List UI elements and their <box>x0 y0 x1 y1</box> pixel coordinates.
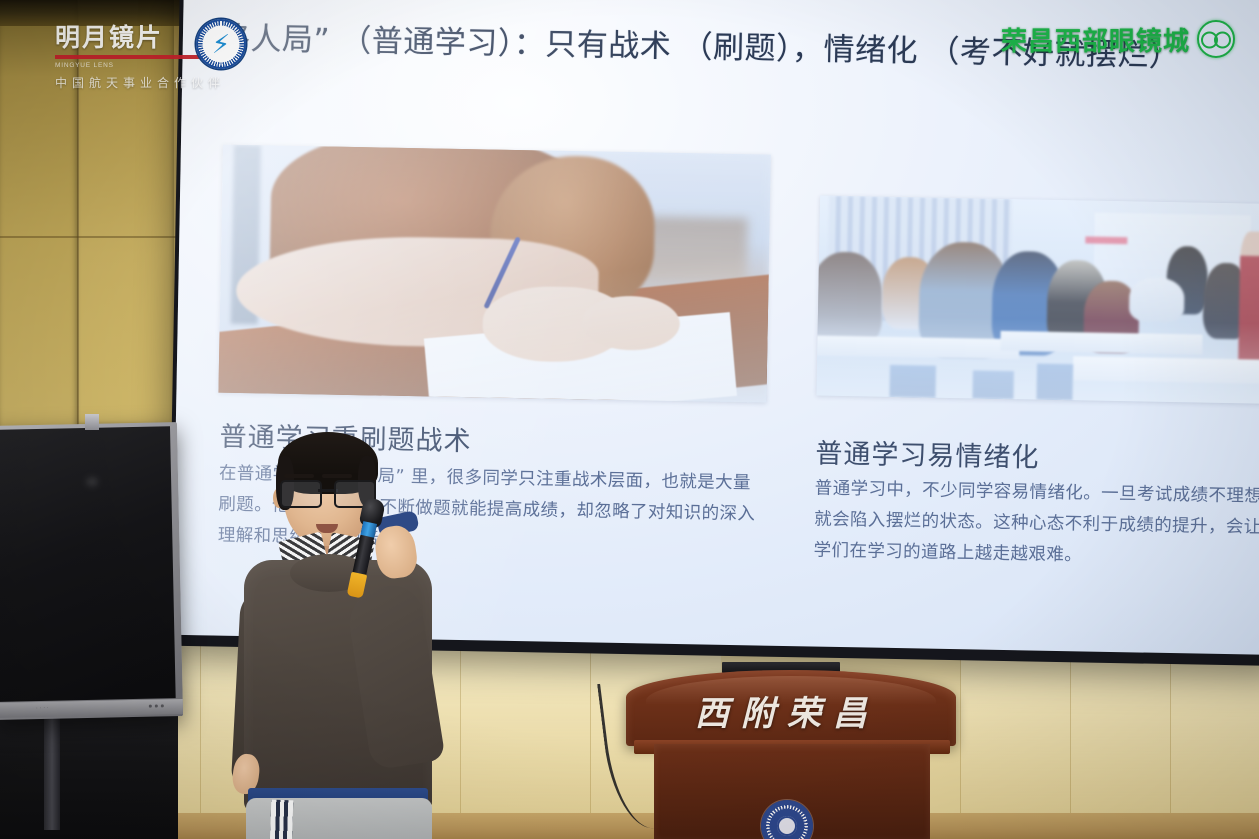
column-heading-right: 普通学习易情绪化 <box>815 432 1040 475</box>
classroom-students-photo <box>816 196 1259 404</box>
wall-seam <box>0 236 176 238</box>
lectern-plate-text: 西附荣昌 <box>612 686 962 735</box>
wall-seam <box>77 0 79 430</box>
monitor-stand <box>0 714 178 839</box>
column-body-right: 普通学习中，不少同学容易情绪化。一旦考试成绩不理想，就会陷入摆烂的状态。这种心态… <box>813 474 1259 576</box>
presenter <box>228 436 438 839</box>
monitor-mount <box>85 414 99 430</box>
lectern: 西附荣昌 <box>612 662 962 839</box>
wall-panel-left-2 <box>78 0 174 424</box>
presenter-pants-stripe <box>269 800 294 839</box>
wall-panel-left-1 <box>0 0 78 430</box>
photo-scene: 路人局” （普通学习）：只有战术 （刷题），情绪化 （考不好就摆烂） <box>0 0 1259 839</box>
slide-title: 路人局” （普通学习）：只有战术 （刷题），情绪化 （考不好就摆烂） <box>219 19 1259 79</box>
display-led-icon <box>149 704 164 707</box>
wall-display: · · · · <box>0 422 183 720</box>
display-brand-label: · · · · <box>36 705 49 710</box>
student-writing-exam-photo <box>218 145 770 403</box>
eyeglasses-icon <box>280 480 376 504</box>
wall-display-screen <box>0 426 176 702</box>
